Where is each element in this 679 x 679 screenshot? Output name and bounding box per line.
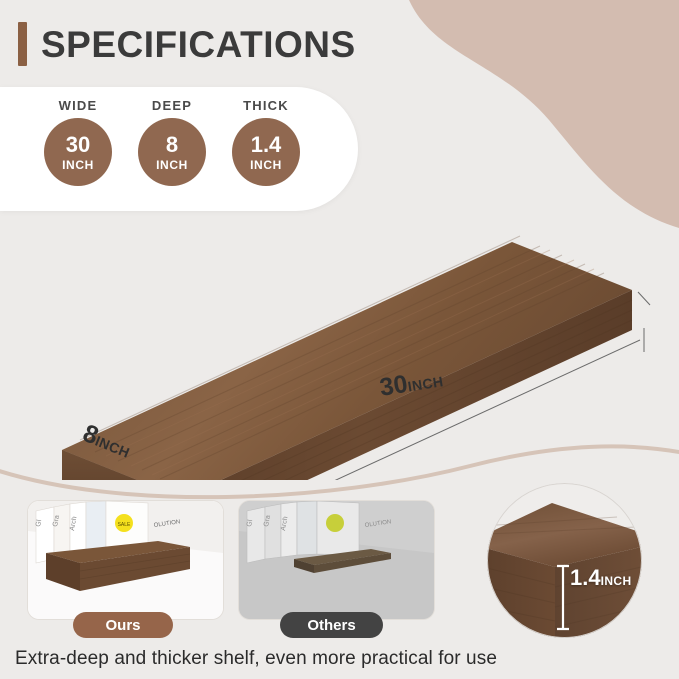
label-others: Others [280,612,383,638]
spec-unit-deep: INCH [156,159,188,171]
spec-value-thick: 1.4 [251,134,282,156]
spec-circle-deep: 8 INCH [138,118,206,186]
spec-unit-wide: INCH [62,159,94,171]
decorative-blob-shape [379,0,679,230]
spec-circle-thick: 1.4 INCH [232,118,300,186]
spec-unit-thick: INCH [250,159,282,171]
spec-value-wide: 30 [66,134,90,156]
page-title: SPECIFICATIONS [41,26,356,63]
spec-value-deep: 8 [166,134,178,156]
spec-label-deep: DEEP [152,98,192,113]
spec-item-wide: WIDE 30 INCH [44,98,112,186]
spec-label-thick: THICK [243,98,289,113]
dimension-length-value: 30 [378,370,410,402]
panel-ours: Gl Gra Arch SALE OLUTION [27,500,224,620]
specs-list: WIDE 30 INCH DEEP 8 INCH THICK 1.4 INCH [44,98,300,186]
dimension-length-unit: INCH [407,373,445,394]
panel-others: Gl Gra Arch OLUTION [238,500,435,620]
thickness-unit: INCH [601,574,632,588]
footer-caption: Extra-deep and thicker shelf, even more … [15,648,497,670]
thickness-label: 1.4INCH [570,565,632,591]
svg-text:SALE: SALE [118,522,131,528]
spec-label-wide: WIDE [59,98,98,113]
label-ours: Ours [73,612,173,638]
page-header: SPECIFICATIONS [18,22,356,66]
title-accent-bar [18,22,27,66]
spec-circle-wide: 30 INCH [44,118,112,186]
thickness-closeup [487,483,642,638]
spec-item-deep: DEEP 8 INCH [138,98,206,186]
thickness-value: 1.4 [570,565,601,590]
spec-item-thick: THICK 1.4 INCH [232,98,300,186]
specifications-infographic: SPECIFICATIONS WIDE 30 INCH DEEP 8 INCH … [0,0,679,679]
specs-card: WIDE 30 INCH DEEP 8 INCH THICK 1.4 INCH [0,87,358,211]
